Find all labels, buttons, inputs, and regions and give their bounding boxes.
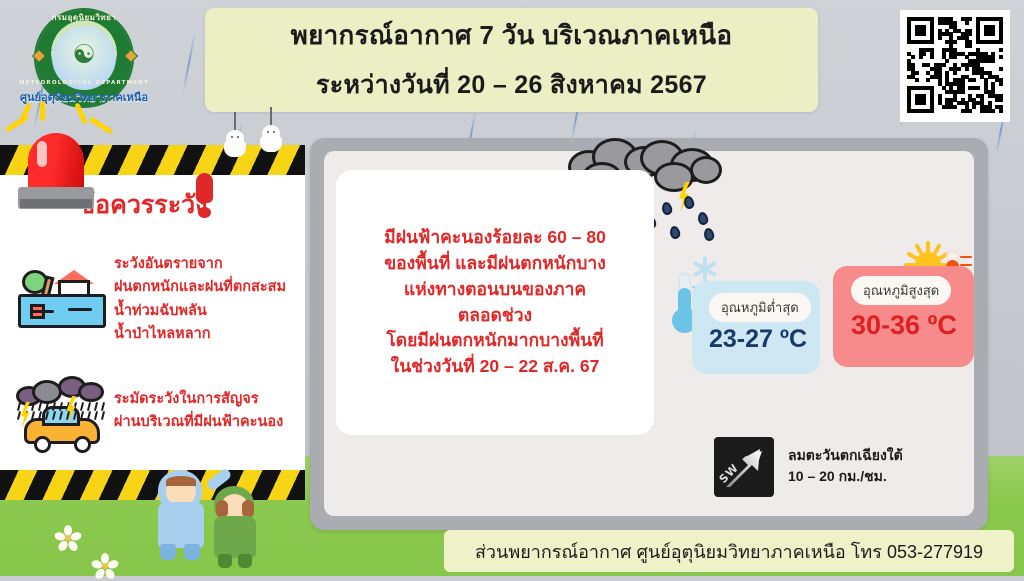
- raindrop: [703, 227, 715, 242]
- qr-module: [922, 101, 926, 105]
- qr-module: [953, 71, 957, 75]
- qr-module: [976, 86, 980, 90]
- wind-direction-icon: SW: [714, 437, 774, 497]
- raindrop: [94, 402, 98, 411]
- siren-base-shadow: [20, 199, 92, 208]
- doll-eye: [237, 136, 239, 138]
- wind-text: ลมตะวันตกเฉียงใต้ 10 – 20 กม./ชม.: [788, 445, 903, 487]
- warning-line: น้ำท่วมฉับพลัน: [114, 300, 286, 323]
- header-banner: พยากรณ์อากาศ 7 วัน บริเวณภาคเหนือ ระหว่า…: [205, 8, 818, 112]
- rain-streak: [182, 30, 197, 95]
- min-temperature-value: 23-27 ºC: [709, 325, 807, 354]
- doll-eye: [273, 131, 275, 133]
- siren-highlight: [37, 141, 47, 167]
- min-temperature-label: อุณหภูมิต่ำสุด: [709, 293, 811, 322]
- qr-module: [919, 55, 923, 59]
- wind-arrow-glyph: [714, 437, 774, 497]
- wind-info: SW ลมตะวันตกเฉียงใต้ 10 – 20 กม./ชม.: [714, 437, 972, 499]
- child-boot: [218, 554, 232, 568]
- exclamation-dot: [198, 207, 211, 218]
- qr-module: [972, 105, 976, 109]
- qr-module: [999, 48, 1003, 52]
- header-title-line1: พยากรณ์อากาศ 7 วัน บริเวณภาคเหนือ: [291, 15, 733, 56]
- raindrop: [80, 402, 84, 411]
- child-coat: [158, 502, 204, 548]
- qr-module: [922, 32, 926, 36]
- warning-block-one: ระวังอันตรายจาก ฝนตกหนักและฝนที่ตกสะสม น…: [114, 253, 286, 347]
- warning-block-two: ระมัดระวังในการสัญจร ผ่านบริเวณที่มีฝนฟ้…: [114, 388, 283, 435]
- qr-module: [999, 82, 1003, 86]
- qr-module: [911, 55, 915, 59]
- qr-module: [926, 78, 930, 82]
- max-temperature-label: อุณหภูมิสูงสุด: [851, 276, 951, 305]
- warning-line: น้ำป่าไหลหลาก: [114, 323, 286, 346]
- wind-speed-text: 10 – 20 กม./ชม.: [788, 466, 903, 487]
- logo-arc-top-text: กรมอุตุนิยมวิทยา: [8, 11, 160, 24]
- qr-module: [999, 55, 1003, 59]
- doll-eye: [231, 136, 233, 138]
- raindrop: [101, 411, 105, 420]
- forecast-line: โดยมีฝนตกหนักมากบางพื้นที่: [386, 328, 603, 354]
- flower-petal: [67, 539, 80, 553]
- qr-module: [930, 109, 934, 113]
- children-in-raincoats: [152, 468, 287, 576]
- qr-module: [953, 105, 957, 109]
- footer-contact-text: ส่วนพยากรณ์อากาศ ศูนย์อุตุนิยมวิทยาภาคเห…: [475, 537, 983, 566]
- qr-module: [953, 55, 957, 59]
- warning-line: ผ่านบริเวณที่มีฝนฟ้าคะนอง: [114, 411, 283, 434]
- qr-module: [938, 36, 942, 40]
- department-logo: ☯ กรมอุตุนิยมวิทยา METEOROLOGICAL DEPART…: [8, 4, 160, 112]
- storm-cloud-puff: [654, 162, 694, 192]
- forecast-text-card: มีฝนฟ้าคะนองร้อยละ 60 – 80 ของพื้นที่ แล…: [336, 170, 654, 435]
- storm-cloud: [78, 382, 104, 402]
- warning-line: ระมัดระวังในการสัญจร: [114, 388, 283, 411]
- child-boot: [160, 544, 176, 560]
- footer-contact-bar: ส่วนพยากรณ์อากาศ ศูนย์อุตุนิยมวิทยาภาคเห…: [444, 530, 1014, 572]
- qr-module: [972, 78, 976, 82]
- water-wave: [68, 308, 92, 311]
- exclamation-bar: [196, 173, 213, 203]
- flower-petal: [57, 539, 70, 553]
- max-temperature-card: อุณหภูมิสูงสุด 30-36 ºC: [833, 266, 974, 367]
- flower-center: [65, 535, 71, 541]
- qr-module: [957, 67, 961, 71]
- forecast-line: แห่งทางตอนบนของภาค: [404, 277, 586, 303]
- doll-body: [224, 141, 246, 157]
- raindrop: [17, 411, 21, 420]
- qr-module: [968, 17, 972, 21]
- qr-module: [999, 67, 1003, 71]
- teru-bozu-doll: [222, 112, 248, 158]
- siren-alarm-icon: [10, 115, 102, 195]
- siren-ray: [40, 101, 45, 121]
- car-wheel: [34, 436, 51, 453]
- qr-module: [915, 78, 919, 82]
- qr-module: [945, 59, 949, 63]
- qr-module: [965, 21, 969, 25]
- logo-deity-figure: ☯: [72, 42, 95, 68]
- logo-arc-bottom-text: ศูนย์อุตุนิยมวิทยาภาคเหนือ: [8, 88, 160, 106]
- qr-module: [991, 32, 995, 36]
- forecast-line: มีฝนฟ้าคะนองร้อยละ 60 – 80: [384, 225, 606, 251]
- qr-module: [968, 32, 972, 36]
- warning-line: ระวังอันตรายจาก: [114, 253, 286, 276]
- water-wave: [32, 310, 54, 313]
- qr-module: [991, 59, 995, 63]
- teru-bozu-doll: [258, 107, 284, 153]
- qr-module: [999, 109, 1003, 113]
- qr-module: [965, 67, 969, 71]
- qr-module: [942, 63, 946, 67]
- qr-module: [953, 40, 957, 44]
- header-title-line2: ระหว่างวันที่ 20 – 26 สิงหาคม 2567: [316, 65, 707, 105]
- qr-code[interactable]: [900, 10, 1010, 122]
- raindrop: [94, 411, 98, 420]
- thermometer-tick: [960, 256, 972, 258]
- flower-petal: [94, 567, 107, 581]
- qr-module: [915, 71, 919, 75]
- min-temperature-card: อุณหภูมิต่ำสุด 23-27 ºC: [692, 281, 820, 374]
- raindrop: [683, 195, 695, 210]
- raindrop: [661, 201, 673, 216]
- qr-module: [968, 44, 972, 48]
- flower-decoration: [95, 556, 115, 576]
- qr-module: [961, 90, 965, 94]
- forecast-line: ในช่วงวันที่ 20 – 22 ส.ค. 67: [391, 354, 600, 380]
- raindrop: [31, 402, 35, 411]
- raindrop: [87, 402, 91, 411]
- flower-petal: [104, 567, 117, 581]
- doll-eye: [267, 131, 269, 133]
- qr-module: [930, 55, 934, 59]
- raindrop: [101, 402, 105, 411]
- qr-module: [968, 109, 972, 113]
- raindrop: [697, 211, 709, 226]
- raindrop: [38, 402, 42, 411]
- qr-module: [922, 52, 926, 56]
- warning-line: ฝนตกหนักและฝนที่ตกสะสม: [114, 276, 286, 299]
- wind-direction-text: ลมตะวันตกเฉียงใต้: [788, 445, 903, 466]
- qr-module: [999, 98, 1003, 102]
- flood-icon: [18, 262, 106, 332]
- logo-arc-english-text: METEOROLOGICAL DEPARTMENT: [8, 80, 160, 86]
- qr-module: [999, 40, 1003, 44]
- child-coat: [214, 516, 256, 558]
- qr-module: [991, 109, 995, 113]
- doll-body: [260, 136, 282, 152]
- raindrop: [669, 225, 681, 240]
- storm-cloud-puff: [690, 156, 722, 184]
- forecast-line: ของพื้นที่ และมีฝนตกหนักบาง: [384, 251, 606, 277]
- max-temperature-value: 30-36 ºC: [851, 310, 957, 341]
- car-wheel: [74, 436, 91, 453]
- flower-decoration: [58, 528, 78, 548]
- car-in-rain-icon: [12, 362, 112, 454]
- qr-module: [930, 40, 934, 44]
- raindrop: [17, 402, 21, 411]
- flower-center: [102, 563, 108, 569]
- child-hair: [166, 476, 196, 486]
- child-boot: [238, 554, 252, 568]
- exclamation-icon: [196, 173, 213, 217]
- child-boot: [184, 544, 200, 560]
- forecast-line: ตลอดช่วง: [458, 303, 532, 329]
